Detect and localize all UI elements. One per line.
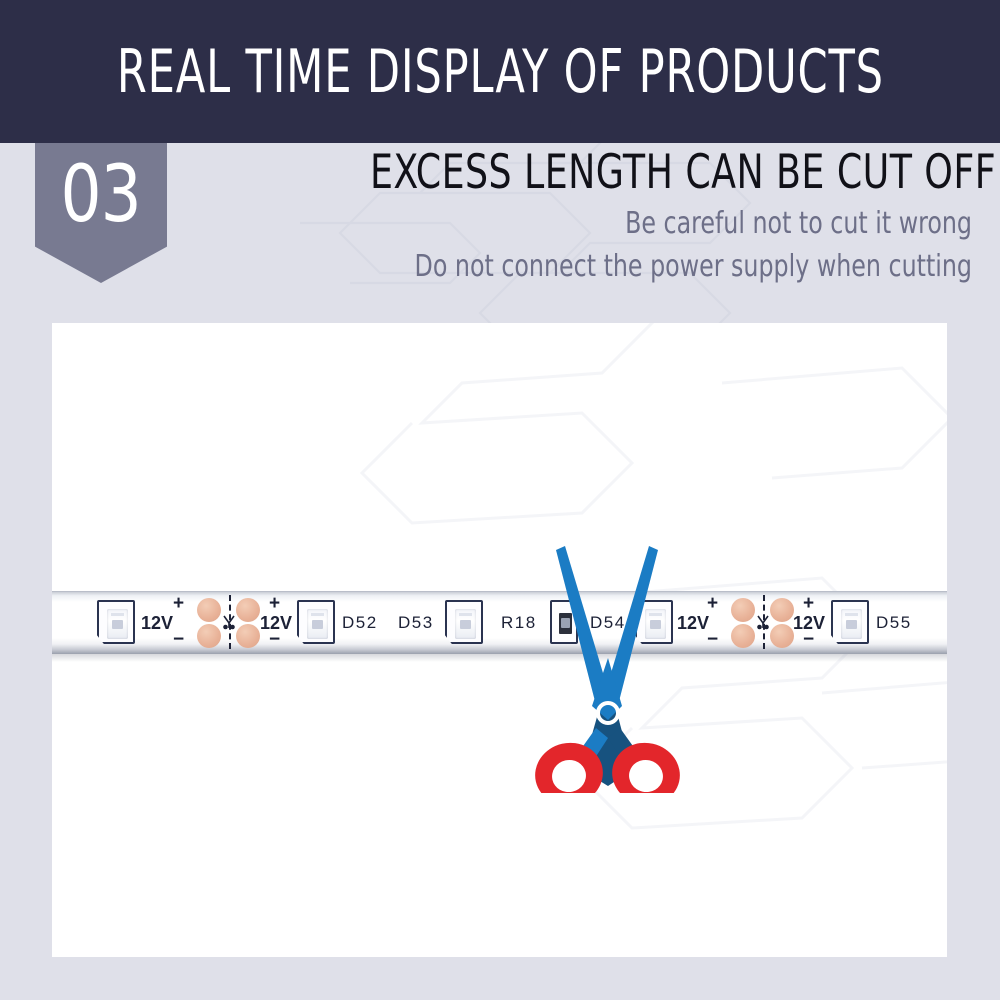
banner-title: REAL TIME DISPLAY OF PRODUCTS xyxy=(117,37,884,107)
solder-pad xyxy=(770,598,794,622)
polarity-minus: − xyxy=(269,629,280,651)
solder-pad xyxy=(197,598,221,622)
led-strip-shadow xyxy=(52,654,947,662)
led-strip: + 12V − + 12V − D52 D53 R18 D54 + 12V − xyxy=(52,591,947,654)
section-number-badge: 03 xyxy=(35,143,167,283)
section-subtitle-line-2: Do not connect the power supply when cut… xyxy=(356,247,972,286)
led-chip xyxy=(445,600,483,644)
polarity-plus: + xyxy=(173,593,184,615)
solder-pad xyxy=(731,624,755,648)
product-photo-panel: + 12V − + 12V − D52 D53 R18 D54 + 12V − xyxy=(52,323,947,957)
solder-pad xyxy=(236,598,260,622)
polarity-plus: + xyxy=(269,593,280,615)
section-header: 03 EXCESS LENGTH CAN BE CUT OFF Be caref… xyxy=(0,143,1000,323)
polarity-minus: − xyxy=(803,629,814,651)
polarity-plus: + xyxy=(707,593,718,615)
solder-pad xyxy=(731,598,755,622)
scissors-icon xyxy=(522,538,692,793)
solder-pad xyxy=(770,624,794,648)
section-header-text: EXCESS LENGTH CAN BE CUT OFF Be careful … xyxy=(272,147,972,286)
page-banner: REAL TIME DISPLAY OF PRODUCTS xyxy=(0,0,1000,143)
section-subtitle-line-1: Be careful not to cut it wrong xyxy=(356,204,972,243)
section-number: 03 xyxy=(61,156,141,234)
component-label: D52 xyxy=(342,613,378,633)
led-chip xyxy=(297,600,335,644)
solder-pad xyxy=(197,624,221,648)
polarity-minus: − xyxy=(707,629,718,651)
section-title: EXCESS LENGTH CAN BE CUT OFF xyxy=(370,147,972,200)
polarity-minus: − xyxy=(173,629,184,651)
polarity-plus: + xyxy=(803,593,814,615)
component-label: D53 xyxy=(398,613,434,633)
led-chip xyxy=(831,600,869,644)
solder-pad xyxy=(236,624,260,648)
led-chip xyxy=(97,600,135,644)
component-label: D55 xyxy=(876,613,912,633)
voltage-label: 12V xyxy=(141,613,173,634)
cut-here-scissors-icon xyxy=(222,615,236,631)
cut-here-scissors-icon xyxy=(756,615,770,631)
